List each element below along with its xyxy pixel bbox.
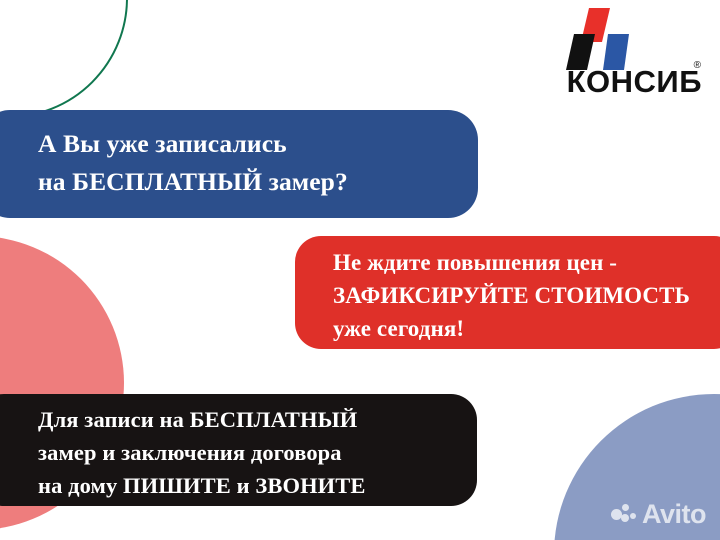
- banner-red-line-3: уже сегодня!: [333, 312, 720, 345]
- banner-black-line-1: Для записи на БЕСПЛАТНЫЙ: [38, 403, 477, 436]
- banner-blue-line-1: А Вы уже записались: [38, 125, 478, 163]
- logo-wordmark: КОНСИБ: [522, 66, 702, 97]
- logo-mark-icon: [558, 8, 634, 70]
- headline-banner-black: Для записи на БЕСПЛАТНЫЙ замер и заключе…: [0, 394, 477, 506]
- banner-red-line-2: ЗАФИКСИРУЙТЕ СТОИМОСТЬ: [333, 279, 720, 312]
- headline-banner-red: Не ждите повышения цен - ЗАФИКСИРУЙТЕ СТ…: [295, 236, 720, 349]
- green-ring-decoration: [0, 0, 128, 118]
- avito-dots-icon: [611, 504, 637, 526]
- headline-banner-blue: А Вы уже записались на БЕСПЛАТНЫЙ замер?: [0, 110, 478, 218]
- banner-black-line-3: на дому ПИШИТЕ и ЗВОНИТЕ: [38, 469, 477, 502]
- avito-watermark-label: Avito: [642, 501, 706, 528]
- registered-trademark-icon: ®: [694, 60, 701, 71]
- brand-logo: КОНСИБ ®: [522, 8, 702, 104]
- banner-blue-line-2: на БЕСПЛАТНЫЙ замер?: [38, 163, 478, 201]
- avito-watermark: Avito: [611, 501, 706, 528]
- banner-black-line-2: замер и заключения договора: [38, 436, 477, 469]
- poster-canvas: КОНСИБ ® А Вы уже записались на БЕСПЛАТН…: [0, 0, 720, 540]
- banner-red-line-1: Не ждите повышения цен -: [333, 246, 720, 279]
